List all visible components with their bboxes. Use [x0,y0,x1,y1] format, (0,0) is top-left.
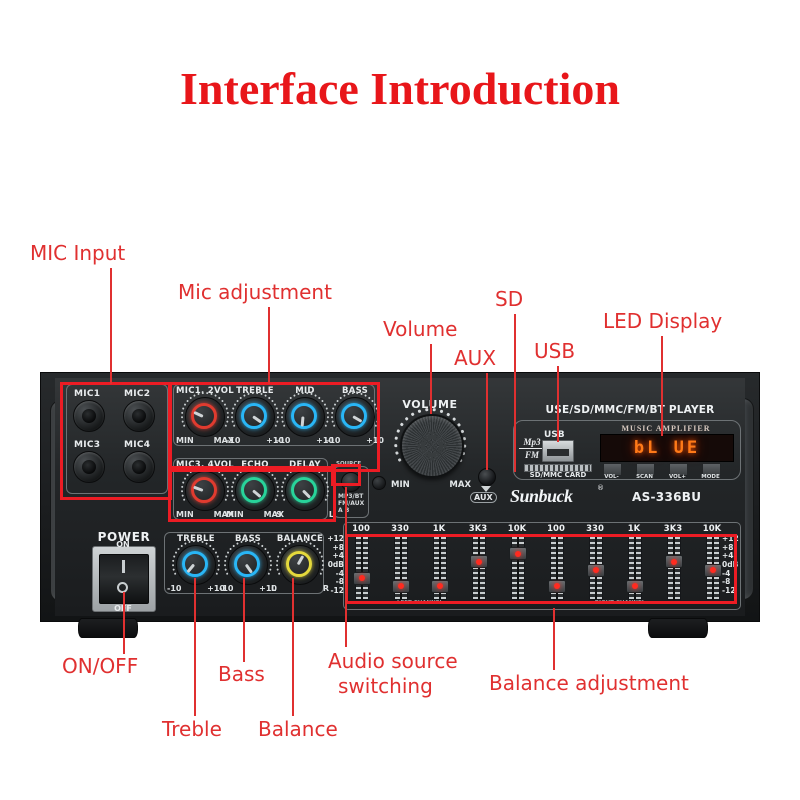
aux-label: AUX [470,492,497,503]
power-on-icon [122,560,125,573]
anno-sd: SD [495,288,523,310]
knob-ring [182,551,208,577]
anno-bass: Bass [218,663,265,685]
sd-card-label: SD/MMC CARD [518,471,598,479]
eq-band-label-left-330: 330 [383,524,417,534]
anno-balance: Balance [258,718,338,740]
anno-usb: USB [534,340,575,362]
leader-treble [194,578,196,716]
power-on-label: ON [92,540,154,549]
source-indicator-dot [372,476,386,490]
led-display-value: bL UE [634,438,700,458]
anno-mic-adjustment: Mic adjustment [178,281,332,303]
knob-min-label: -10 [167,584,181,593]
source-option-mp3bt: MP3/BT [338,493,363,500]
eq-band-label-right-3k3: 3K3 [656,524,690,534]
eq-scale-tick: -8 [336,577,344,586]
eq-scale-tick: 0dB [328,560,344,569]
leader-aux [486,373,488,470]
media-button-label: VOL- [599,474,624,480]
highlight-mic-input [60,382,172,500]
eq-scale-tick: -12 [330,586,344,595]
media-player-title: USE/SD/MMC/FM/BT PLAYER [520,404,740,416]
knob-max-label: R [323,584,329,593]
eq-band-label-right-330: 330 [578,524,612,534]
knob-range: -10+10 [167,584,225,593]
leader-balance [292,578,294,716]
highlight-mic-adjust-row1 [168,382,380,472]
source-option-ab: A B [338,507,349,514]
knob-min-label: -10 [219,584,233,593]
amplifier-foot-right [648,618,708,638]
eq-scale-tick: +8 [332,543,344,552]
leader-led-display [661,336,663,436]
eq-band-label-left-1k: 1K [422,524,456,534]
aux-jack[interactable] [478,468,496,486]
leader-on-off [123,592,125,654]
source-option-fmaux: FM/AUX [338,500,364,507]
anno-audio-source-line1: Audio source [328,650,458,672]
knob-dial[interactable] [280,545,320,585]
eq-band-label-left-3k3: 3K3 [461,524,495,534]
highlight-mic-adjust-row2 [168,466,336,522]
led-display: bL UE [600,434,734,462]
eq-scale-tick: -4 [336,569,344,578]
eq-band-label-left-100: 100 [344,524,378,534]
page-title: Interface Introduction [0,62,800,115]
anno-volume: Volume [383,318,457,340]
usb-port[interactable] [542,440,574,462]
knob-min-label: L [271,584,276,593]
eq-band-label-right-10k: 10K [695,524,729,534]
leader-mic-adjustment [268,307,270,384]
amplifier-foot-left [78,618,138,638]
model-number: AS-336BU [632,490,701,504]
leader-balance-adjustment [553,608,555,670]
knob-dial[interactable] [228,545,268,585]
volume-min-label: MIN [391,480,410,490]
knob-range: -10+10 [219,584,277,593]
anno-on-off: ON/OFF [62,655,138,677]
anno-led-display: LED Display [603,310,722,332]
media-button-label: SCAN [632,474,657,480]
volume-knob[interactable] [400,414,464,478]
eq-band-label-right-1k: 1K [617,524,651,534]
knob-dial[interactable] [176,545,216,585]
music-amplifier-text: MUSIC AMPLIFIER [600,424,732,433]
anno-balance-adjustment: Balance adjustment [489,672,689,694]
highlight-source-switch [331,464,361,486]
knob-range: LR [271,584,329,593]
volume-range: MIN MAX [391,480,471,490]
leader-bass [243,578,245,662]
anno-treble: Treble [162,718,222,740]
volume-max-label: MAX [449,480,471,490]
anno-audio-source-line2: switching [338,675,433,697]
media-button-label: VOL+ [665,474,690,480]
leader-mic-input [110,268,112,384]
anno-mic-input: MIC Input [30,242,125,264]
leader-sd [514,314,516,472]
brand-logo: Sunbuck [510,486,573,507]
leader-usb [557,366,559,442]
leader-volume [430,344,432,414]
brand-registered-icon: ® [597,484,604,492]
eq-scale-tick: +4 [332,551,344,560]
eq-band-label-left-10k: 10K [500,524,534,534]
media-button-label: MODE [698,474,723,480]
anno-aux: AUX [454,347,496,369]
eq-scale-tick: +12 [327,534,344,543]
highlight-equalizer [345,534,737,604]
usb-label: USB [544,430,565,440]
screenshot-canvas: Interface Introduction MIC1 MIC2 MIC3 MI… [0,0,800,800]
leader-audio-source [345,487,347,647]
eq-band-label-right-100: 100 [539,524,573,534]
